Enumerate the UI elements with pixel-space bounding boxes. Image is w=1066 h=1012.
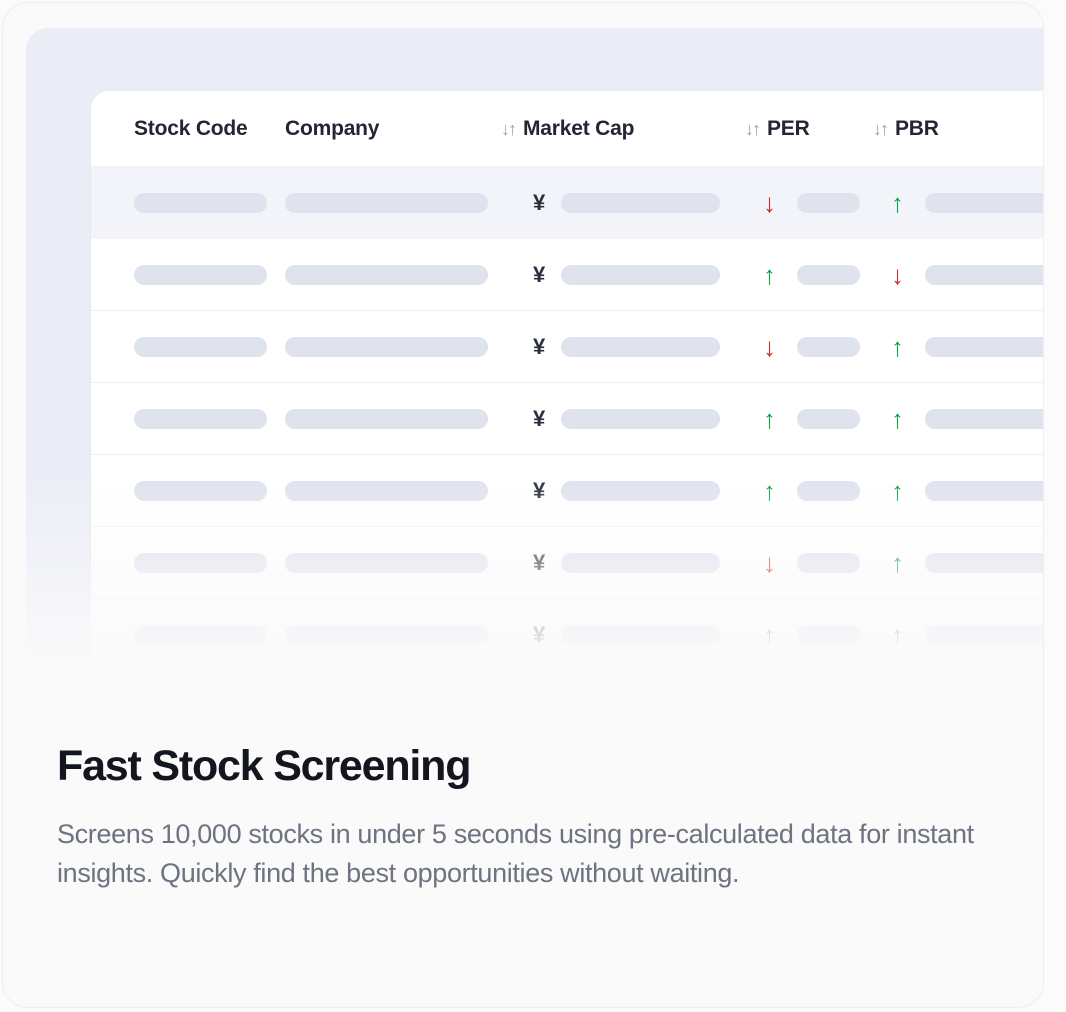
skeleton-placeholder — [797, 193, 860, 213]
cell-company — [285, 625, 501, 645]
table-row[interactable]: ¥↑↑ — [91, 671, 1044, 703]
column-header-per[interactable]: ↓↑ PER — [745, 117, 873, 141]
cell-pbr: ↑ — [873, 478, 1044, 504]
skeleton-placeholder — [561, 481, 720, 501]
skeleton-placeholder — [925, 625, 1044, 645]
skeleton-placeholder — [797, 409, 860, 429]
trend-arrow-down-icon: ↓ — [763, 550, 797, 576]
skeleton-placeholder — [134, 337, 267, 357]
trend-arrow-up-icon: ↑ — [891, 550, 925, 576]
cell-pbr: ↑ — [873, 406, 1044, 432]
skeleton-placeholder — [797, 553, 860, 573]
skeleton-placeholder — [134, 481, 267, 501]
skeleton-placeholder — [134, 265, 267, 285]
table-row[interactable]: ¥↑↑ — [91, 383, 1044, 455]
column-header-label: PBR — [895, 117, 939, 141]
cell-market-cap: ¥ — [501, 552, 745, 574]
skeleton-placeholder — [925, 193, 1044, 213]
cell-pbr: ↑ — [873, 550, 1044, 576]
trend-arrow-up-icon: ↑ — [763, 262, 797, 288]
page-title: Fast Stock Screening — [57, 743, 1032, 789]
skeleton-placeholder — [561, 337, 720, 357]
skeleton-placeholder — [285, 697, 488, 704]
skeleton-placeholder — [797, 265, 860, 285]
screener-visual-region: Stock Code Company ↓↑ Market Cap ↓↑ PER … — [3, 3, 1044, 703]
column-header-market-cap[interactable]: ↓↑ Market Cap — [501, 117, 745, 141]
column-header-label: Stock Code — [134, 117, 248, 141]
cell-pbr: ↓ — [873, 262, 1044, 288]
trend-arrow-down-icon: ↓ — [763, 334, 797, 360]
skeleton-placeholder — [797, 625, 860, 645]
skeleton-placeholder — [285, 265, 488, 285]
cell-stock-code — [91, 625, 285, 645]
skeleton-placeholder — [285, 481, 488, 501]
skeleton-placeholder — [285, 625, 488, 645]
trend-arrow-down-icon: ↓ — [891, 262, 925, 288]
cell-pbr: ↑ — [873, 334, 1044, 360]
column-header-pbr[interactable]: ↓↑ PBR — [873, 117, 1044, 141]
cell-pbr: ↑ — [873, 694, 1044, 704]
stock-screener-table: Stock Code Company ↓↑ Market Cap ↓↑ PER … — [91, 91, 1044, 703]
skeleton-placeholder — [925, 337, 1044, 357]
yen-currency-icon: ¥ — [533, 624, 561, 646]
trend-arrow-up-icon: ↑ — [891, 694, 925, 704]
trend-arrow-up-icon: ↑ — [763, 622, 797, 648]
skeleton-placeholder — [561, 193, 720, 213]
cell-pbr: ↑ — [873, 190, 1044, 216]
cell-company — [285, 193, 501, 213]
cell-stock-code — [91, 553, 285, 573]
table-row[interactable]: ¥↓↑ — [91, 167, 1044, 239]
yen-currency-icon: ¥ — [533, 264, 561, 286]
cell-company — [285, 553, 501, 573]
cell-company — [285, 481, 501, 501]
skeleton-placeholder — [285, 337, 488, 357]
feature-description: Screens 10,000 stocks in under 5 seconds… — [57, 815, 1032, 892]
trend-arrow-up-icon: ↑ — [891, 334, 925, 360]
table-row[interactable]: ¥↑↓ — [91, 239, 1044, 311]
skeleton-placeholder — [925, 697, 1044, 704]
skeleton-placeholder — [134, 409, 267, 429]
column-header-label: Company — [285, 117, 379, 141]
skeleton-placeholder — [925, 481, 1044, 501]
cell-company — [285, 337, 501, 357]
skeleton-placeholder — [797, 481, 860, 501]
column-header-label: Market Cap — [523, 117, 634, 141]
skeleton-placeholder — [561, 265, 720, 285]
table-row[interactable]: ¥↑↑ — [91, 599, 1044, 671]
skeleton-placeholder — [134, 193, 267, 213]
sort-toggle-icon[interactable]: ↓↑ — [873, 120, 887, 138]
skeleton-placeholder — [561, 697, 720, 704]
sort-toggle-icon[interactable]: ↓↑ — [745, 120, 759, 138]
trend-arrow-up-icon: ↑ — [891, 190, 925, 216]
cell-per: ↑ — [745, 262, 873, 288]
cell-per: ↓ — [745, 550, 873, 576]
skeleton-placeholder — [797, 337, 860, 357]
table-row[interactable]: ¥↓↑ — [91, 311, 1044, 383]
column-header-label: PER — [767, 117, 810, 141]
yen-currency-icon: ¥ — [533, 336, 561, 358]
yen-currency-icon: ¥ — [533, 696, 561, 704]
skeleton-placeholder — [797, 697, 860, 704]
table-header-row: Stock Code Company ↓↑ Market Cap ↓↑ PER … — [91, 91, 1044, 167]
cell-per: ↑ — [745, 694, 873, 704]
cell-market-cap: ¥ — [501, 336, 745, 358]
skeleton-placeholder — [134, 625, 267, 645]
column-header-stock-code[interactable]: Stock Code — [91, 117, 285, 141]
table-row[interactable]: ¥↓↑ — [91, 527, 1044, 599]
cell-stock-code — [91, 697, 285, 704]
cell-market-cap: ¥ — [501, 624, 745, 646]
cell-stock-code — [91, 265, 285, 285]
column-header-company[interactable]: Company — [285, 117, 501, 141]
skeleton-placeholder — [925, 553, 1044, 573]
cell-stock-code — [91, 337, 285, 357]
cell-per: ↑ — [745, 478, 873, 504]
skeleton-placeholder — [134, 553, 267, 573]
cell-per: ↑ — [745, 406, 873, 432]
skeleton-placeholder — [134, 697, 267, 704]
cell-market-cap: ¥ — [501, 696, 745, 704]
cell-pbr: ↑ — [873, 622, 1044, 648]
trend-arrow-up-icon: ↑ — [763, 694, 797, 704]
cell-per: ↓ — [745, 334, 873, 360]
trend-arrow-up-icon: ↑ — [891, 406, 925, 432]
cell-stock-code — [91, 193, 285, 213]
yen-currency-icon: ¥ — [533, 480, 561, 502]
trend-arrow-up-icon: ↑ — [763, 406, 797, 432]
feature-text-block: Fast Stock Screening Screens 10,000 stoc… — [57, 743, 1032, 892]
table-body: ¥↓↑¥↑↓¥↓↑¥↑↑¥↑↑¥↓↑¥↑↑¥↑↑ — [91, 167, 1044, 703]
cell-per: ↑ — [745, 622, 873, 648]
table-row[interactable]: ¥↑↑ — [91, 455, 1044, 527]
trend-arrow-up-icon: ↑ — [763, 478, 797, 504]
skeleton-placeholder — [561, 625, 720, 645]
skeleton-placeholder — [925, 265, 1044, 285]
cell-company — [285, 409, 501, 429]
cell-stock-code — [91, 481, 285, 501]
skeleton-placeholder — [561, 553, 720, 573]
yen-currency-icon: ¥ — [533, 552, 561, 574]
cell-company — [285, 697, 501, 704]
trend-arrow-down-icon: ↓ — [763, 190, 797, 216]
skeleton-placeholder — [925, 409, 1044, 429]
skeleton-placeholder — [285, 553, 488, 573]
skeleton-placeholder — [561, 409, 720, 429]
feature-card: Stock Code Company ↓↑ Market Cap ↓↑ PER … — [2, 2, 1044, 1008]
yen-currency-icon: ¥ — [533, 408, 561, 430]
trend-arrow-up-icon: ↑ — [891, 622, 925, 648]
cell-market-cap: ¥ — [501, 408, 745, 430]
cell-market-cap: ¥ — [501, 480, 745, 502]
skeleton-placeholder — [285, 409, 488, 429]
cell-per: ↓ — [745, 190, 873, 216]
sort-toggle-icon[interactable]: ↓↑ — [501, 120, 515, 138]
cell-company — [285, 265, 501, 285]
skeleton-placeholder — [285, 193, 488, 213]
yen-currency-icon: ¥ — [533, 192, 561, 214]
cell-stock-code — [91, 409, 285, 429]
cell-market-cap: ¥ — [501, 192, 745, 214]
cell-market-cap: ¥ — [501, 264, 745, 286]
trend-arrow-up-icon: ↑ — [891, 478, 925, 504]
